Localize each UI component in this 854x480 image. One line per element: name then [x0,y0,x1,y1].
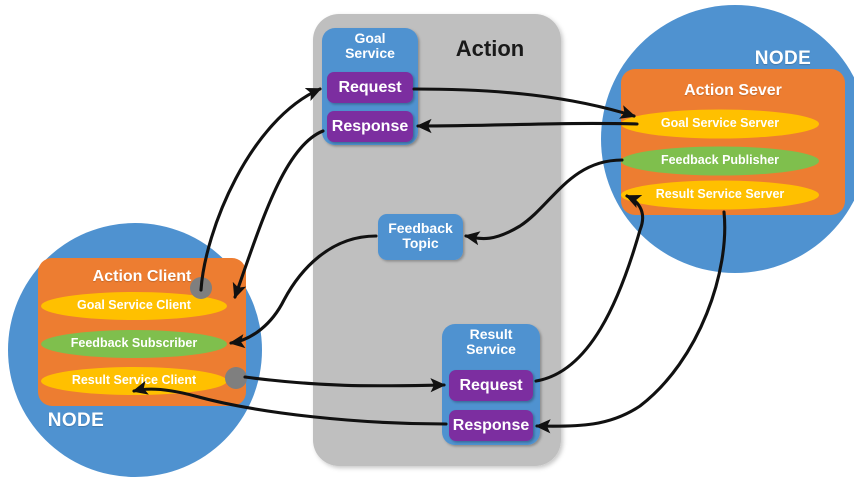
client-pill-label-0[interactable]: Goal Service Client [41,299,227,313]
server-pill-label-2[interactable]: Result Service Server [621,188,819,202]
goal-service-title: Goal Service [322,31,418,61]
client-pill-label-2[interactable]: Result Service Client [41,374,227,388]
result-service-request-label[interactable]: Request [449,377,533,394]
action-container-title: Action [430,37,550,61]
server-pill-label-1[interactable]: Feedback Publisher [621,154,819,168]
feedback-topic-label[interactable]: Feedback Topic [378,221,463,251]
diagram-canvas: Action Goal Service Request Response Res… [0,0,854,480]
server-pill-label-0[interactable]: Goal Service Server [621,117,819,131]
result-service-title: Result Service [442,327,540,357]
client-pill-label-1[interactable]: Feedback Subscriber [41,337,227,351]
goal-service-request-label[interactable]: Request [327,79,413,96]
client-group-label: Action Client [38,268,246,285]
client-node-label: NODE [38,411,114,432]
server-group-label: Action Sever [621,82,845,99]
text-layer: Action Goal Service Request Response Res… [0,0,854,480]
goal-service-response-label[interactable]: Response [327,118,413,135]
server-node-label: NODE [735,49,831,70]
result-service-response-label[interactable]: Response [449,417,533,434]
